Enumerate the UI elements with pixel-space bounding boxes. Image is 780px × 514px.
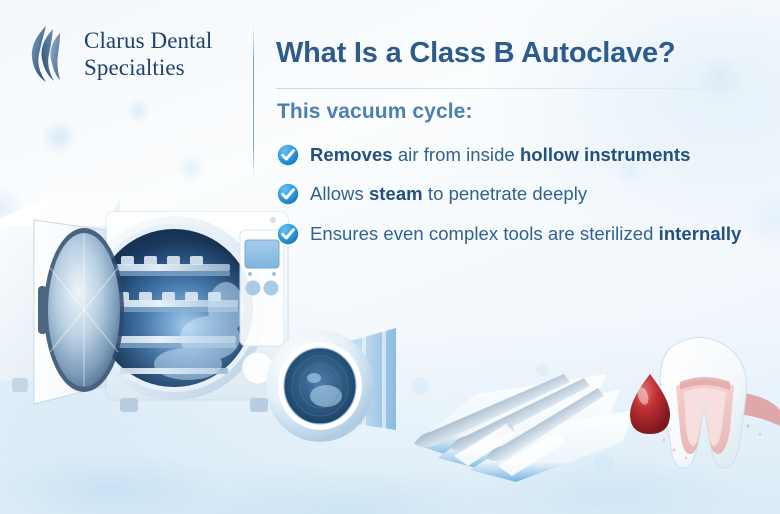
autoclave-machine-illustration [0, 168, 298, 443]
list-item-text: Allows steam to penetrate deeply [310, 181, 587, 207]
vertical-divider [253, 26, 254, 178]
page-title: What Is a Class B Autoclave? [276, 36, 756, 71]
infographic-poster: Clarus Dental Specialties What Is a Clas… [0, 0, 780, 514]
brand-logo: Clarus Dental Specialties [26, 24, 212, 84]
horizontal-divider [276, 88, 746, 89]
brand-name: Clarus Dental Specialties [84, 27, 212, 81]
check-circle-icon [277, 183, 299, 205]
tooth-cross-section-illustration [628, 330, 780, 514]
list-item: Allows steam to penetrate deeply [277, 181, 747, 207]
subheading: This vacuum cycle: [277, 100, 473, 124]
check-circle-icon [277, 223, 299, 245]
list-item-text: Removes air from inside hollow instrumen… [310, 142, 690, 168]
benefit-list: Removes air from inside hollow instrumen… [277, 142, 747, 260]
list-item: Removes air from inside hollow instrumen… [277, 142, 747, 168]
check-circle-icon [277, 144, 299, 166]
list-item-text: Ensures even complex tools are sterilize… [310, 221, 741, 247]
dental-instruments-illustration [398, 352, 658, 502]
hollow-lumen-tube-illustration [256, 312, 416, 467]
list-item: Ensures even complex tools are sterilize… [277, 221, 747, 247]
clarus-flame-logo-icon [26, 24, 70, 84]
